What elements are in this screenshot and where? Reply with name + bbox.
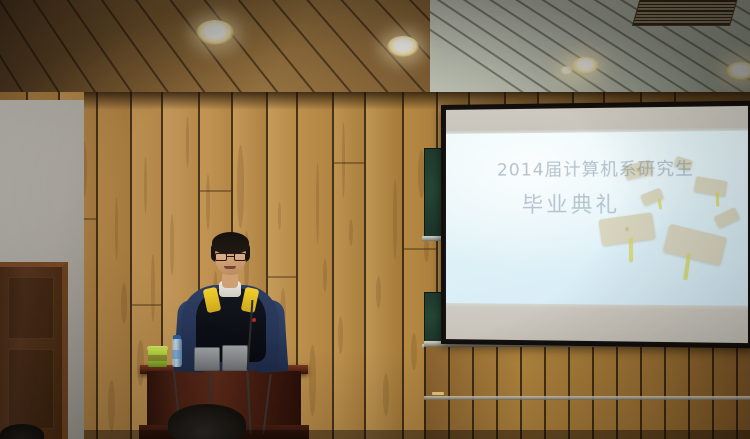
wood-grain	[278, 202, 281, 230]
wood-grain	[108, 380, 115, 432]
wood-grain	[144, 157, 147, 214]
wainscot-seam	[472, 344, 474, 439]
cup-band	[148, 355, 167, 361]
wood-grain	[393, 179, 397, 260]
hall-door[interactable]	[0, 262, 68, 439]
wood-grain	[186, 117, 189, 168]
wainscot-seam	[688, 344, 690, 439]
plank-joint	[334, 162, 364, 164]
wood-grain	[338, 316, 343, 354]
wainscot-seam	[736, 344, 738, 439]
lecture-hall-photo: 2014届计算机系研究生 毕业典礼	[0, 0, 750, 439]
wood-grain	[170, 214, 174, 276]
plank-joint	[404, 248, 436, 250]
projection-screen[interactable]: 2014届计算机系研究生 毕业典礼	[441, 101, 750, 349]
wainscot-seam	[448, 344, 450, 439]
wood-grain	[323, 259, 327, 292]
mouth	[224, 266, 236, 269]
chalk-rail-lower	[424, 396, 750, 400]
wall-plank	[334, 92, 364, 439]
wood-grain	[342, 122, 345, 198]
hair-top	[212, 232, 249, 254]
wood-grain	[151, 254, 155, 322]
wood-grain	[383, 373, 389, 416]
laptop-screen-right[interactable]	[222, 345, 248, 371]
lens-right	[234, 253, 246, 261]
plank-joint	[200, 190, 231, 192]
wainscot-seam	[424, 344, 426, 439]
slide-title-line-2: 毕业典礼	[446, 188, 748, 219]
slide-title-line-1: 2014届计算机系研究生	[446, 154, 748, 181]
wood-grain	[349, 219, 353, 246]
cap-tassel	[629, 238, 633, 263]
plank-joint	[268, 276, 296, 278]
wainscot-seam	[664, 344, 666, 439]
glasses-icon	[215, 253, 246, 261]
audience-member-silhouette-2	[0, 424, 44, 439]
projected-slide: 2014届计算机系研究生 毕业典礼	[446, 131, 748, 306]
wainscot-seam	[592, 344, 594, 439]
wainscot-seam	[496, 344, 498, 439]
bottle-label	[172, 350, 182, 359]
wainscot-seam	[640, 344, 642, 439]
wainscot-seam	[616, 344, 618, 439]
door-panel-upper	[8, 277, 54, 339]
wood-grain	[376, 276, 381, 308]
wood-grain	[309, 345, 316, 416]
plank-joint	[132, 304, 161, 306]
wainscot-seam	[544, 344, 546, 439]
wood-grain	[137, 340, 144, 386]
wood-grain	[121, 283, 127, 324]
lens-left	[215, 253, 227, 261]
audience-member-silhouette	[168, 404, 246, 439]
chalk-piece	[432, 392, 444, 395]
wainscot-seam	[712, 344, 714, 439]
door-panel-lower	[8, 349, 54, 429]
wood-grain	[115, 197, 118, 260]
laptop-screen-left[interactable]	[194, 347, 220, 371]
wood-grain	[237, 145, 244, 228]
lapel-pin	[252, 318, 256, 322]
wood-grain	[316, 162, 319, 244]
wainscot-seam	[568, 344, 570, 439]
wood-grain	[206, 174, 210, 230]
glasses-bridge	[227, 256, 234, 257]
wainscot-seam	[520, 344, 522, 439]
wood-grain	[411, 333, 417, 370]
wall-wainscot	[424, 344, 750, 439]
